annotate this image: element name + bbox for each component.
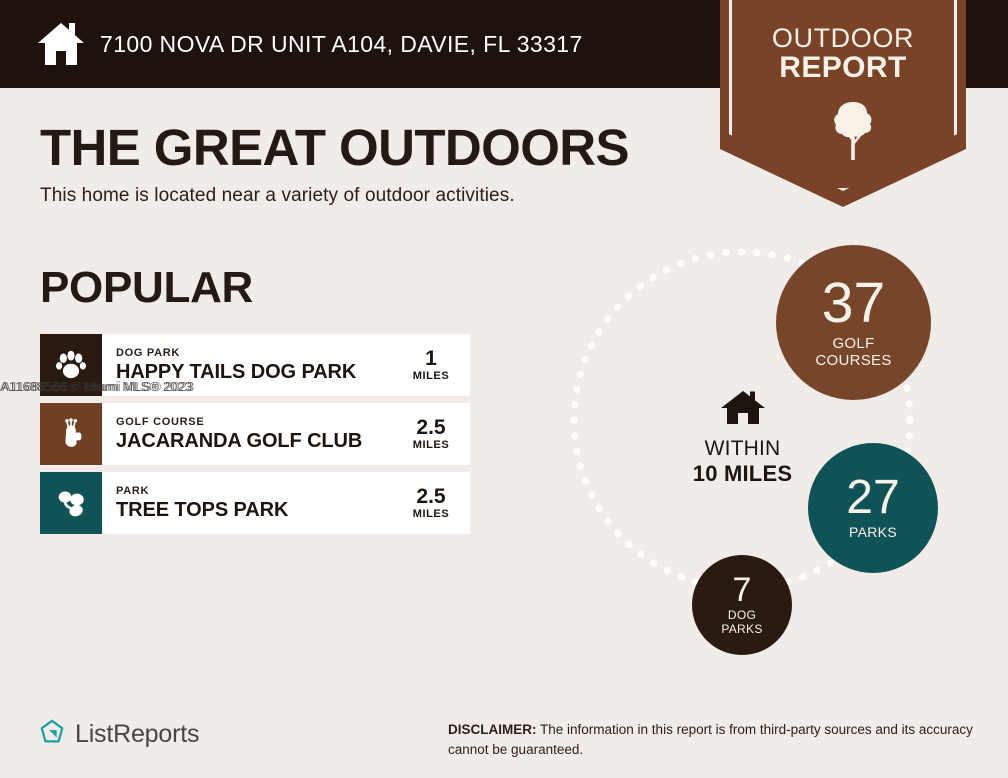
popular-list: DOG PARK HAPPY TAILS DOG PARK 1 MILES GO… bbox=[40, 334, 470, 541]
bubble-value: 7 bbox=[733, 574, 752, 606]
distance-unit: MILES bbox=[413, 370, 450, 382]
list-item[interactable]: GOLF COURSE JACARANDA GOLF CLUB 2.5 MILE… bbox=[40, 403, 470, 465]
outdoor-report-badge: OUTDOOR REPORT bbox=[720, 0, 966, 207]
bubble-label-line-1: DOG bbox=[721, 609, 762, 622]
popular-heading: POPULAR bbox=[40, 263, 253, 313]
list-item-name: JACARANDA GOLF CLUB bbox=[116, 430, 392, 453]
bubble-value: 27 bbox=[846, 475, 899, 521]
house-icon bbox=[36, 21, 86, 67]
mls-watermark-ghost: A11688566 © Miami MLS® 2023 bbox=[2, 379, 194, 394]
list-item-distance: 2.5 MILES bbox=[392, 472, 470, 534]
distance-unit: MILES bbox=[413, 508, 450, 520]
list-item[interactable]: PARK TREE TOPS PARK 2.5 MILES bbox=[40, 472, 470, 534]
distance-value: 1 bbox=[425, 348, 437, 370]
chart-center-label: WITHIN 10 MILES bbox=[665, 390, 820, 486]
bubble-dog-parks: 7 DOG PARKS bbox=[692, 555, 792, 655]
badge-text: OUTDOOR REPORT bbox=[720, 24, 966, 83]
center-label-line-2: 10 MILES bbox=[665, 461, 820, 486]
property-address: 7100 NOVA DR UNIT A104, DAVIE, FL 33317 bbox=[100, 31, 583, 58]
listreports-house-icon bbox=[38, 718, 66, 751]
badge-line-2: REPORT bbox=[720, 52, 966, 83]
distance-value: 2.5 bbox=[416, 486, 445, 508]
list-item-text: PARK TREE TOPS PARK bbox=[102, 472, 392, 534]
center-label-line-1: WITHIN bbox=[665, 437, 820, 461]
list-item-category: PARK bbox=[116, 484, 392, 498]
golf-bag-icon bbox=[40, 403, 102, 465]
bubble-label-line-1: PARKS bbox=[849, 525, 897, 541]
bubble-label-line-2: PARKS bbox=[721, 623, 762, 636]
bubble-parks: 27 PARKS bbox=[808, 443, 938, 573]
listreports-logo[interactable]: ListReports bbox=[38, 718, 199, 751]
house-icon bbox=[665, 390, 820, 431]
list-item-category: DOG PARK bbox=[116, 346, 392, 360]
within-10-miles-chart: 37 GOLF COURSES 27 PARKS 7 DOG PARKS WIT… bbox=[520, 230, 990, 670]
bubble-value: 37 bbox=[822, 276, 885, 330]
distance-value: 2.5 bbox=[416, 417, 445, 439]
page-title: THE GREAT OUTDOORS bbox=[40, 118, 629, 177]
list-item-distance: 1 MILES bbox=[392, 334, 470, 396]
badge-line-1: OUTDOOR bbox=[720, 24, 966, 52]
page-subtitle: This home is located near a variety of o… bbox=[40, 185, 515, 207]
mls-watermark: A11688566 © Miami MLS® 2023 A11688566 © … bbox=[0, 379, 192, 394]
bubble-label-line-1: GOLF bbox=[815, 336, 891, 353]
trees-icon bbox=[40, 472, 102, 534]
bubble-golf-courses: 37 GOLF COURSES bbox=[776, 245, 931, 400]
tree-icon bbox=[833, 100, 873, 162]
list-item-text: GOLF COURSE JACARANDA GOLF CLUB bbox=[102, 403, 392, 465]
list-item-name: TREE TOPS PARK bbox=[116, 499, 392, 522]
listreports-logo-text: ListReports bbox=[75, 720, 199, 749]
bubble-label: GOLF COURSES bbox=[815, 336, 891, 370]
bubble-label-line-2: COURSES bbox=[815, 353, 891, 370]
list-item-category: GOLF COURSE bbox=[116, 415, 392, 429]
list-item-distance: 2.5 MILES bbox=[392, 403, 470, 465]
disclaimer-label: DISCLAIMER: bbox=[448, 722, 537, 737]
bubble-label: DOG PARKS bbox=[721, 609, 762, 636]
distance-unit: MILES bbox=[413, 439, 450, 451]
disclaimer: DISCLAIMER: The information in this repo… bbox=[448, 720, 996, 759]
bubble-label: PARKS bbox=[849, 525, 897, 541]
